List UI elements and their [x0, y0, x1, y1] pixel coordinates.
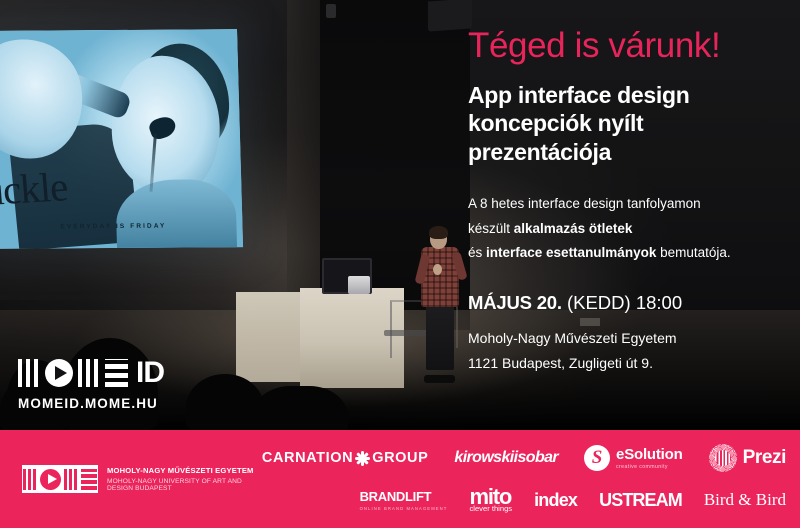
mome-m-bars-icon	[23, 469, 38, 490]
sponsor-carnation-group[interactable]: CARNATION GROUP	[262, 450, 429, 466]
sponsor-kirowskiisobar[interactable]: kirowskiisobar	[454, 449, 558, 467]
description-line-3: és interface esettanulmányok bemutatója.	[468, 241, 788, 266]
venue-name: Moholy-Nagy Művészeti Egyetem	[468, 326, 788, 350]
kirowskiisobar-name: kirowskiisobar	[454, 449, 558, 467]
prezi-name: Prezi	[743, 447, 786, 469]
mito-tagline: clever things	[469, 504, 512, 513]
event-date-rest: (KEDD) 18:00	[567, 292, 682, 313]
ustream-name: USTREAM	[599, 490, 682, 511]
sponsor-bird-and-bird[interactable]: Bird & Bird	[704, 490, 786, 510]
presenter-hair	[429, 226, 448, 239]
sponsor-brandlift[interactable]: BRANDLIFT ONLINE BRAND MANAGEMENT	[360, 490, 448, 511]
event-date: MÁJUS 20. (KEDD) 18:00	[468, 292, 788, 314]
mome-e-bars-icon	[81, 469, 97, 490]
logo-e-bars-icon	[105, 359, 128, 387]
sponsor-index[interactable]: index	[534, 490, 577, 511]
venue-address: 1121 Budapest, Zugligeti út 9.	[468, 351, 788, 375]
slide-word: uckle	[0, 162, 69, 215]
mome-university-brand: MOHOLY-NAGY MŰVÉSZETI EGYETEM MOHOLY-NAG…	[22, 465, 262, 493]
index-name: index	[534, 490, 577, 511]
logo-o-play-icon	[45, 359, 73, 387]
momeid-brand-block: ID MOMEID.MOME.HU	[18, 358, 164, 411]
mome-m-bars-icon	[64, 469, 79, 490]
esolution-text: eSolution creative community	[616, 447, 683, 470]
mome-logo-text: MOHOLY-NAGY MŰVÉSZETI EGYETEM MOHOLY-NAG…	[107, 466, 262, 492]
momeid-url[interactable]: MOMEID.MOME.HU	[18, 396, 164, 411]
sponsor-prezi[interactable]: Prezi	[709, 444, 786, 472]
prezi-sunburst-icon	[709, 444, 737, 472]
description-line-3-suffix: bemutatója.	[656, 245, 730, 260]
subtitle-line-1: App interface design	[468, 81, 788, 110]
slide-tagline: EVERYDAY IS FRIDAY	[60, 223, 166, 231]
mome-logo-inner	[23, 469, 98, 490]
esolution-name: eSolution	[616, 447, 683, 462]
description-line-1: A 8 hetes interface design tanfolyamon	[468, 192, 788, 217]
podium	[300, 288, 404, 388]
bird-and-bird-name: Bird & Bird	[704, 490, 786, 510]
description-line-2: készült alkalmazás ötletek	[468, 217, 788, 242]
sponsor-esolution[interactable]: S eSolution creative community	[584, 445, 683, 471]
poster-root: uckle EVERYDAY IS FRIDAY	[0, 0, 800, 528]
carnation-flower-icon	[355, 451, 370, 466]
carnation-part1: CARNATION	[262, 450, 353, 466]
carnation-part2: GROUP	[372, 450, 428, 466]
description-line-3-bold: interface esettanulmányok	[486, 245, 656, 260]
wall-column	[287, 0, 323, 320]
sponsor-logos: CARNATION GROUP kirowskiisobar S eSoluti…	[262, 437, 786, 521]
logo-m-bars-icon	[78, 359, 100, 387]
esolution-s-icon: S	[584, 445, 610, 471]
sponsor-row-1: CARNATION GROUP kirowskiisobar S eSoluti…	[262, 437, 786, 479]
mome-o-play-icon	[40, 469, 61, 490]
sponsor-mito[interactable]: mito clever things	[469, 487, 512, 514]
description-line-2-bold: alkalmazás ötletek	[514, 221, 633, 236]
description-line-3-prefix: és	[468, 245, 486, 260]
podium-side-panel	[236, 292, 308, 382]
ceiling-speaker	[428, 0, 472, 32]
page-title: Téged is várunk!	[468, 28, 788, 65]
presenter-hand	[433, 264, 442, 275]
event-description: A 8 hetes interface design tanfolyamon k…	[468, 192, 788, 266]
logo-m-bars-icon	[18, 359, 40, 387]
brandlift-tagline: ONLINE BRAND MANAGEMENT	[360, 506, 448, 511]
event-subtitle: App interface design koncepciók nyílt pr…	[468, 81, 788, 167]
sponsor-footer: MOHOLY-NAGY MŰVÉSZETI EGYETEM MOHOLY-NAG…	[0, 430, 800, 528]
mito-text: mito clever things	[469, 487, 512, 514]
momeid-logo: ID	[18, 358, 164, 388]
presenter-shoes	[424, 375, 455, 383]
sponsor-ustream[interactable]: USTREAM	[599, 490, 682, 511]
mome-logo-mark	[22, 465, 98, 493]
ceiling-light	[326, 4, 336, 18]
presenter-legs	[426, 304, 454, 370]
subtitle-line-3: prezentációja	[468, 138, 788, 167]
event-venue: Moholy-Nagy Művészeti Egyetem 1121 Budap…	[468, 326, 788, 375]
subtitle-line-2: koncepciók nyílt	[468, 109, 788, 138]
brandlift-name: BRANDLIFT	[360, 490, 448, 503]
sponsor-row-2: BRANDLIFT ONLINE BRAND MANAGEMENT mito c…	[262, 479, 786, 521]
esolution-tagline: creative community	[616, 464, 683, 470]
info-panel: Téged is várunk! App interface design ko…	[468, 28, 788, 375]
brandlift-text: BRANDLIFT ONLINE BRAND MANAGEMENT	[360, 490, 448, 511]
laptop	[348, 276, 370, 294]
audience-silhouette	[252, 386, 348, 430]
description-line-2-plain: készült	[468, 221, 514, 236]
mome-name-hu: MOHOLY-NAGY MŰVÉSZETI EGYETEM	[107, 466, 262, 475]
projected-slide: uckle EVERYDAY IS FRIDAY	[0, 29, 243, 249]
logo-id-text: ID	[136, 359, 164, 387]
presenter	[418, 228, 464, 380]
mome-name-en: MOHOLY-NAGY UNIVERSITY OF ART AND DESIGN…	[107, 478, 262, 492]
event-date-strong: MÁJUS 20.	[468, 292, 562, 313]
